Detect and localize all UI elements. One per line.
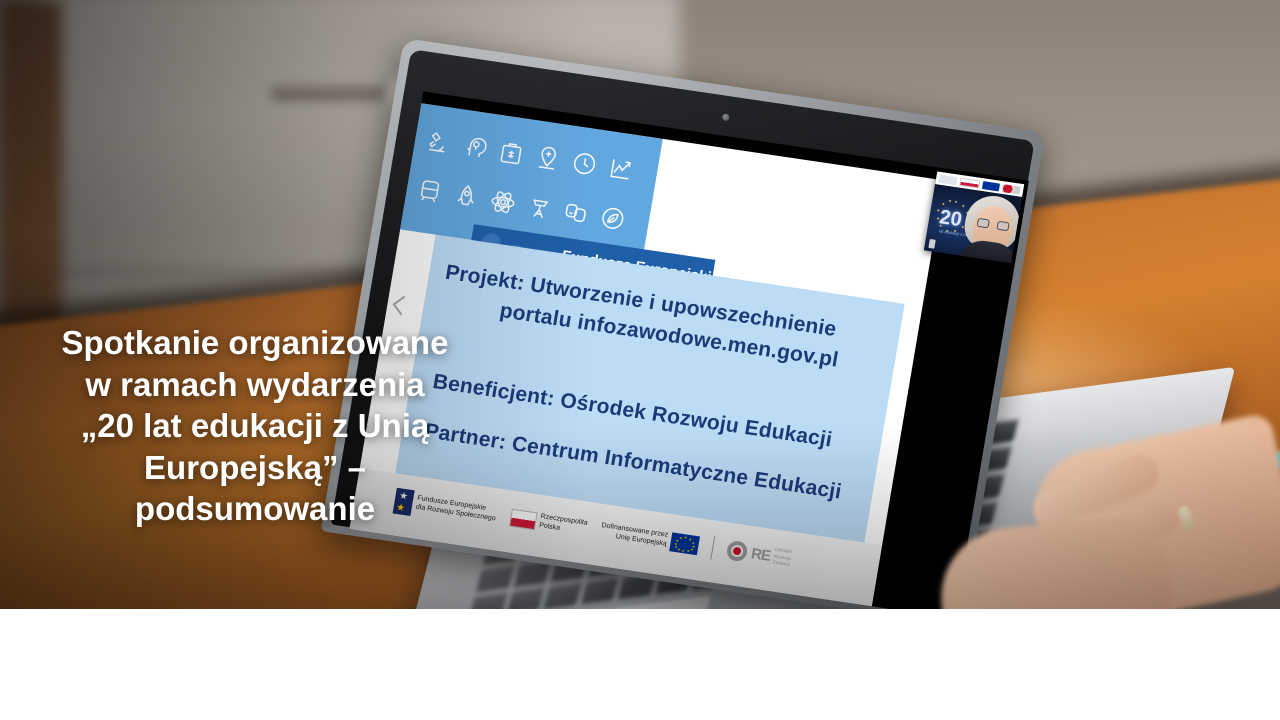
leaf-icon xyxy=(598,203,628,234)
chevron-left-icon[interactable] xyxy=(393,296,413,316)
headline-line-3: „20 lat edukacji z Unią xyxy=(0,405,510,447)
slide-logo-polska: RzeczpospolitaPolska xyxy=(509,509,589,538)
telescope-icon xyxy=(524,192,554,223)
eu-flag xyxy=(981,181,1000,191)
ore-logo: RE OśrodekRozwojuEdukacji xyxy=(726,540,793,569)
headline-line-1: Spotkanie organizowane xyxy=(0,322,510,364)
microscope-icon xyxy=(423,126,453,157)
fe-logo xyxy=(938,174,957,184)
webcam-icon xyxy=(722,113,730,121)
briefcase-icon xyxy=(496,137,526,168)
participant-face xyxy=(959,192,1023,263)
eu-flag-icon xyxy=(670,532,701,555)
pl-flag xyxy=(959,177,980,188)
headline-line-5: podsumowanie xyxy=(0,488,510,530)
rocket-icon xyxy=(451,181,481,212)
head-lightbulb-icon xyxy=(460,132,490,163)
theatre-masks-icon xyxy=(561,197,591,228)
page-title: Spotkanie organizowane w ramach wydarzen… xyxy=(0,322,510,530)
slide-logo-polska-label: RzeczpospolitaPolska xyxy=(538,513,588,537)
clock-icon xyxy=(569,148,599,179)
atom-icon xyxy=(488,186,518,217)
icon-row-1 xyxy=(423,126,636,184)
ore-ring-icon xyxy=(726,540,749,563)
video-participant-tile[interactable]: 20 lat edukacji z Unią Europejską xyxy=(924,171,1024,263)
footer-logo-bar: Fundusze Europejskie dla Rozwoju Społecz… xyxy=(0,609,1280,720)
train-icon xyxy=(415,176,445,207)
icon-row-2 xyxy=(415,176,628,234)
ore-logo xyxy=(1002,184,1021,194)
polish-flag-icon xyxy=(509,509,538,531)
headline-line-2: w ramach wydarzenia xyxy=(0,364,510,406)
growth-chart-icon xyxy=(606,153,636,184)
ore-wordmark: RE xyxy=(750,545,771,565)
headline-line-4: Europejską” – xyxy=(0,447,510,489)
slide-logo-ue: Dofinansowane przezUnię Europejską xyxy=(599,522,700,555)
slide-image: Fundusze Europejskie Projekt: Utworzenie… xyxy=(0,0,1280,720)
medical-location-icon xyxy=(533,143,563,174)
slide-logo-ue-label: Dofinansowane przezUnię Europejską xyxy=(599,522,669,549)
ore-subtitle: OśrodekRozwojuEdukacji xyxy=(772,547,792,569)
slide-footer-divider xyxy=(711,536,716,560)
